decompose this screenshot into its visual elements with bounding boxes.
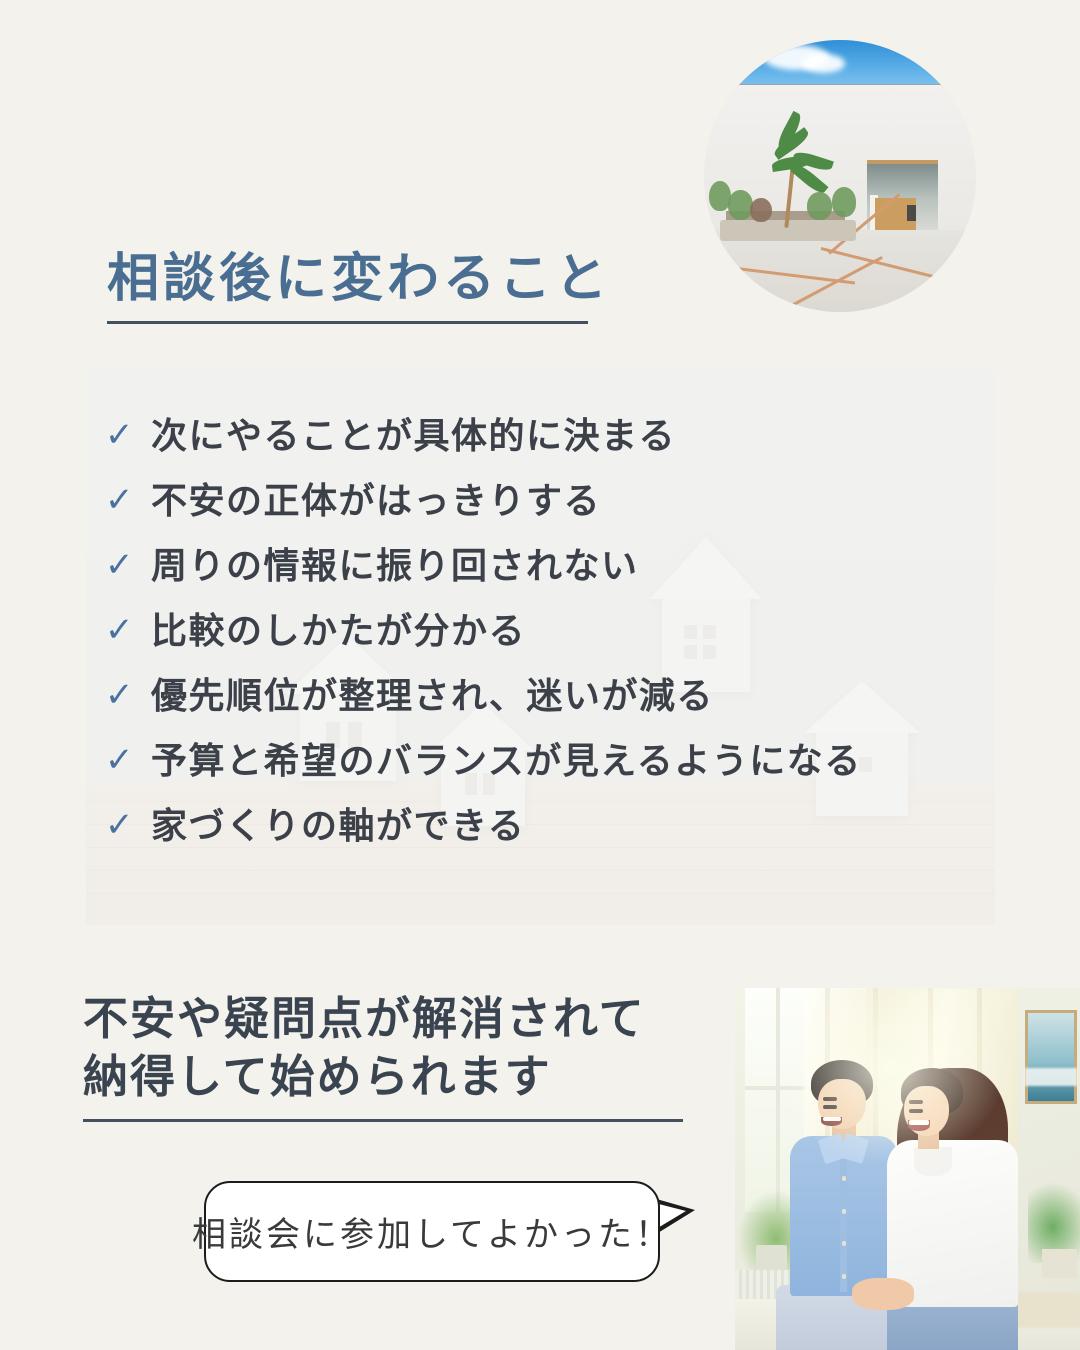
list-item: ✓ 家づくりの軸ができる: [105, 808, 995, 873]
list-item-label: 家づくりの軸ができる: [151, 808, 525, 844]
bubble-label: 相談会に参加してよかった！: [192, 1207, 672, 1256]
plant-pot: [1042, 1249, 1077, 1278]
list-item-label: 次にやることが具体的に決まる: [151, 418, 676, 454]
footer-heading: 不安や疑問点が解消されて 納得して始められます: [83, 990, 646, 1105]
cloud-shape: [802, 54, 846, 73]
page-title: 相談後に変わること: [107, 236, 611, 311]
list-item: ✓ 次にやることが具体的に決まる: [105, 418, 995, 483]
list-item-label: 予算と希望のバランスが見えるようになる: [151, 743, 862, 779]
couple-photo: [735, 988, 1080, 1350]
benefits-list: ✓ 次にやることが具体的に決まる ✓ 不安の正体がはっきりする ✓ 周りの情報に…: [86, 370, 995, 925]
bubble-body: 相談会に参加してよかった！: [204, 1181, 660, 1282]
man-shirt-placket: [840, 1155, 847, 1293]
painting-wave: [1025, 1068, 1077, 1086]
list-item-label: 優先順位が整理され、迷いが減る: [151, 678, 714, 714]
held-hands: [852, 1278, 914, 1311]
shrub: [807, 192, 831, 219]
shrub: [728, 190, 752, 220]
list-item-label: 比較のしかたが分かる: [151, 613, 526, 649]
list-item-label: 周りの情報に振り回されない: [151, 548, 639, 584]
check-icon: ✓: [105, 678, 151, 712]
check-icon: ✓: [105, 808, 151, 842]
footer-divider: [83, 1119, 683, 1122]
shrub: [750, 198, 772, 222]
check-icon: ✓: [105, 613, 151, 647]
list-item: ✓ 予算と希望のバランスが見えるようになる: [105, 743, 995, 808]
footer-heading-line-2: 納得して始められます: [83, 1048, 646, 1106]
testimonial-bubble: 相談会に参加してよかった！: [204, 1181, 704, 1282]
exterior-house-photo: [704, 40, 976, 312]
list-item: ✓ 不安の正体がはっきりする: [105, 483, 995, 548]
check-icon: ✓: [105, 483, 151, 517]
check-icon: ✓: [105, 743, 151, 777]
footer-heading-line-1: 不安や疑問点が解消されて: [83, 990, 646, 1048]
check-icon: ✓: [105, 548, 151, 582]
list-item: ✓ 優先順位が整理され、迷いが減る: [105, 678, 995, 743]
shrub: [709, 181, 731, 211]
cloud-shape: [718, 56, 751, 70]
list-item: ✓ 周りの情報に振り回されない: [105, 548, 995, 613]
framed-seascape-painting: [1025, 1010, 1077, 1104]
check-icon: ✓: [105, 418, 151, 452]
list-item: ✓ 比較のしかたが分かる: [105, 613, 995, 678]
title-divider: [107, 321, 588, 324]
benefits-panel: ✓ 次にやることが具体的に決まる ✓ 不安の正体がはっきりする ✓ 周りの情報に…: [86, 370, 995, 925]
shrub: [832, 187, 856, 217]
list-item-label: 不安の正体がはっきりする: [151, 483, 601, 519]
window-light-glow: [770, 988, 1012, 1169]
mailbox-plate: [907, 205, 917, 221]
